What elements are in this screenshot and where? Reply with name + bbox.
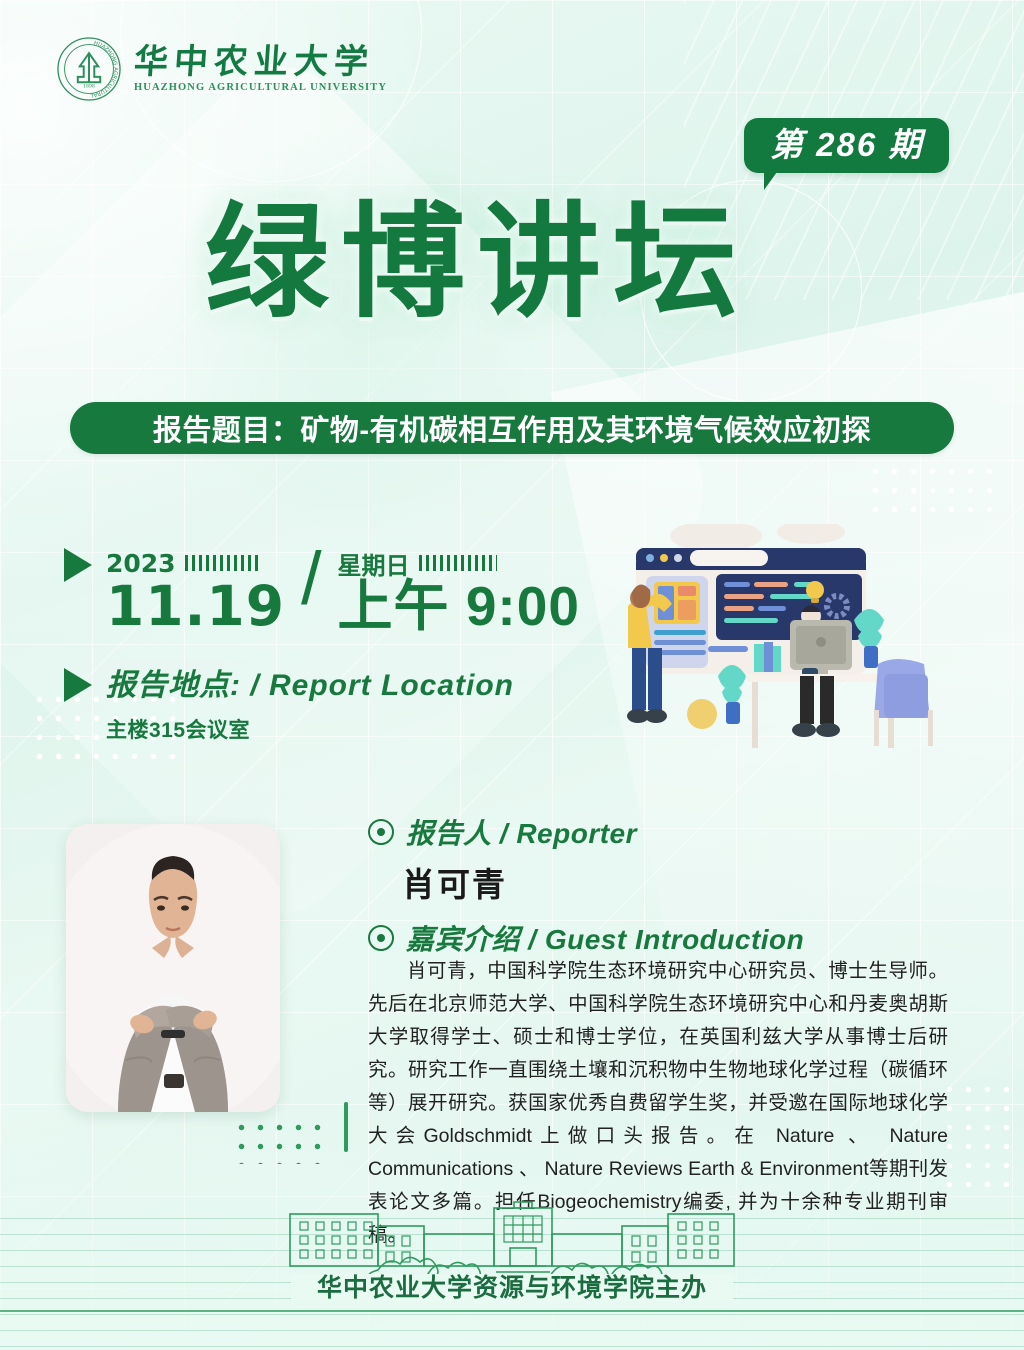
university-logo: 1898 HUAZHONG AGRICULTURAL 华中农业大学 HUAZHO… <box>56 36 387 102</box>
university-name-cn: 华中农业大学 <box>133 46 388 80</box>
svg-text:1898: 1898 <box>83 83 95 89</box>
time-column: 星期日 上午 9:00 <box>338 548 580 636</box>
datetime-block: 2023 11.19 / 星期日 上午 9:00 <box>64 548 580 636</box>
tick-marks-icon <box>185 555 259 571</box>
reporter-block: 报告人 / Reporter 肖可青 嘉宾介绍 / Guest Introduc… <box>368 812 948 958</box>
date-column: 2023 11.19 <box>106 548 285 636</box>
triangle-marker-icon-2 <box>64 668 92 702</box>
background-dot-grid-bottom-right <box>940 1080 1020 1200</box>
location-label: 报告地点: / Report Location <box>106 668 514 704</box>
date-separator: / <box>301 544 322 614</box>
workspace-illustration <box>606 524 1006 792</box>
reporter-label: 报告人 / Reporter <box>406 812 637 852</box>
guest-intro-label-row: 嘉宾介绍 / Guest Introduction <box>368 918 948 958</box>
page-title: 绿博讲坛 <box>205 192 749 335</box>
background-dot-grid-right <box>866 462 1006 524</box>
episode-badge: 第 286 期 <box>744 118 949 173</box>
location-value: 主楼315会议室 <box>106 714 514 744</box>
portrait-dot-accent <box>232 1118 328 1164</box>
target-icon <box>368 819 394 845</box>
footer: 华中农业大学资源与环境学院主办 <box>0 1218 1024 1350</box>
university-seal-icon: 1898 HUAZHONG AGRICULTURAL <box>56 36 122 102</box>
footer-organizer: 华中农业大学资源与环境学院主办 <box>0 1268 1024 1304</box>
speaker-photo <box>66 824 280 1112</box>
subject-text: 报告题目：矿物-有机碳相互作用及其环境气候效应初探 <box>153 407 871 449</box>
target-icon-2 <box>368 925 394 951</box>
date-time: 上午 9:00 <box>338 578 580 636</box>
footer-divider <box>0 1310 1024 1312</box>
reporter-label-row: 报告人 / Reporter <box>368 812 948 852</box>
guest-intro-label: 嘉宾介绍 / Guest Introduction <box>406 918 804 958</box>
reporter-name: 肖可青 <box>402 858 948 906</box>
location-block: 报告地点: / Report Location 主楼315会议室 <box>64 668 514 744</box>
episode-badge-text: 第 286 期 <box>770 128 923 161</box>
university-name-en: HUAZHONG AGRICULTURAL UNIVERSITY <box>134 82 387 93</box>
speaker-portrait <box>66 824 280 1112</box>
subject-bar: 报告题目：矿物-有机碳相互作用及其环境气候效应初探 <box>70 402 954 454</box>
tick-marks-icon-2 <box>419 555 497 571</box>
portrait-line-accent <box>344 1102 348 1152</box>
poster-canvas: 1898 HUAZHONG AGRICULTURAL 华中农业大学 HUAZHO… <box>0 0 1024 1350</box>
date-day: 11.19 <box>106 578 285 636</box>
triangle-marker-icon <box>64 548 92 582</box>
